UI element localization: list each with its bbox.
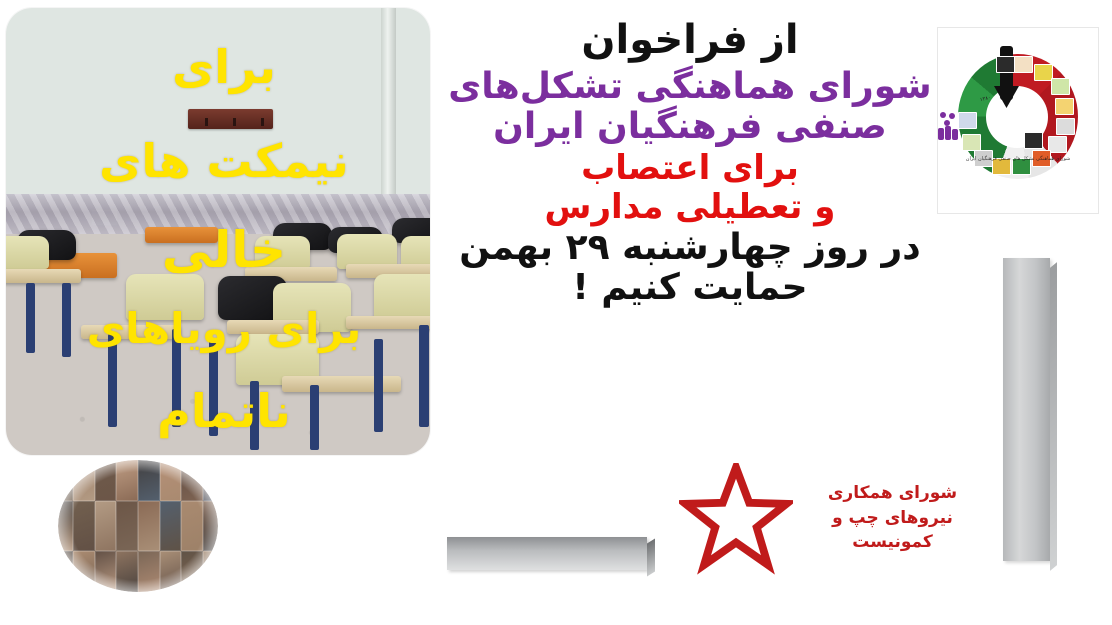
logo-chip-14: [1024, 132, 1043, 149]
main-message: از فراخوان شورای هماهنگی تشکل‌های صنفی ف…: [440, 18, 940, 308]
logo-chip-3: [1051, 78, 1070, 95]
logo-chip-1: [1014, 56, 1033, 73]
face-tile: [73, 501, 95, 550]
coat-rack: [188, 109, 273, 129]
face-tile: [116, 551, 138, 592]
message-line-7: حمایت کنیم !: [440, 268, 940, 308]
face-tile: [138, 501, 160, 550]
message-line-1: از فراخوان: [440, 18, 940, 63]
signature-line-1: شورای همکاری: [795, 481, 990, 506]
red-star-outline-icon: [679, 463, 793, 575]
face-tile: [95, 501, 117, 550]
school-desks: [6, 223, 430, 455]
face-tile: [116, 501, 138, 550]
face-tile: [181, 551, 203, 592]
face-tile: [58, 501, 73, 550]
message-line-3: صنفی فرهنگیان ایران: [440, 107, 940, 147]
face-tile: [58, 551, 73, 592]
logo-chip-4: [1055, 98, 1074, 115]
face-tile: [95, 551, 117, 592]
signature-block: شورای همکاری نیروهای چپ و کمونیست: [795, 481, 990, 555]
purple-people-icon: [938, 112, 958, 140]
message-line-2: شورای هماهنگی تشکل‌های: [440, 67, 940, 107]
face-tile: [181, 501, 203, 550]
teachers-coordination-council-logo: ۱۳۸۰ شورای هماهنگی تشکل های صنفی فرهنگیا…: [952, 46, 1084, 196]
logo-chip-12: [958, 112, 977, 129]
face-tile: [58, 460, 73, 501]
face-tile: [73, 460, 95, 501]
children-faces-collage: [58, 460, 218, 592]
face-tile: [160, 460, 182, 501]
face-tile: [73, 551, 95, 592]
logo-caption: شورای هماهنگی تشکل های صنفی فرهنگیان ایر…: [960, 156, 1076, 190]
message-line-6: در روز چهارشنبه ۲۹ بهمن: [440, 228, 940, 268]
signature-line-2: نیروهای چپ و کمونیست: [795, 506, 990, 555]
face-tile: [203, 551, 218, 592]
logo-chip-13: [996, 56, 1015, 73]
message-line-5: و تعطیلی مدارس: [440, 188, 940, 226]
message-line-4: برای اعتصاب: [440, 149, 940, 187]
face-tile: [116, 460, 138, 501]
logo-pen-nib-icon: [1000, 46, 1013, 100]
gray-vertical-column: [1003, 258, 1050, 561]
logo-chip-5: [1056, 118, 1075, 135]
teachers-council-logo-frame: ۱۳۸۰ شورای هماهنگی تشکل های صنفی فرهنگیا…: [937, 27, 1099, 214]
face-tile: [160, 551, 182, 592]
logo-chip-11: [962, 134, 981, 151]
face-tile: [181, 460, 203, 501]
empty-classroom-photo: برای نیمکت های خالی برای رویاهای ناتمام: [6, 8, 430, 455]
face-tile: [160, 501, 182, 550]
face-tile: [95, 460, 117, 501]
gray-horizontal-bar: [447, 537, 647, 570]
face-tile: [138, 460, 160, 501]
face-tile: [203, 501, 218, 550]
poster-canvas: برای نیمکت های خالی برای رویاهای ناتمام …: [0, 0, 1112, 625]
face-tile: [138, 551, 160, 592]
face-tile: [203, 460, 218, 501]
